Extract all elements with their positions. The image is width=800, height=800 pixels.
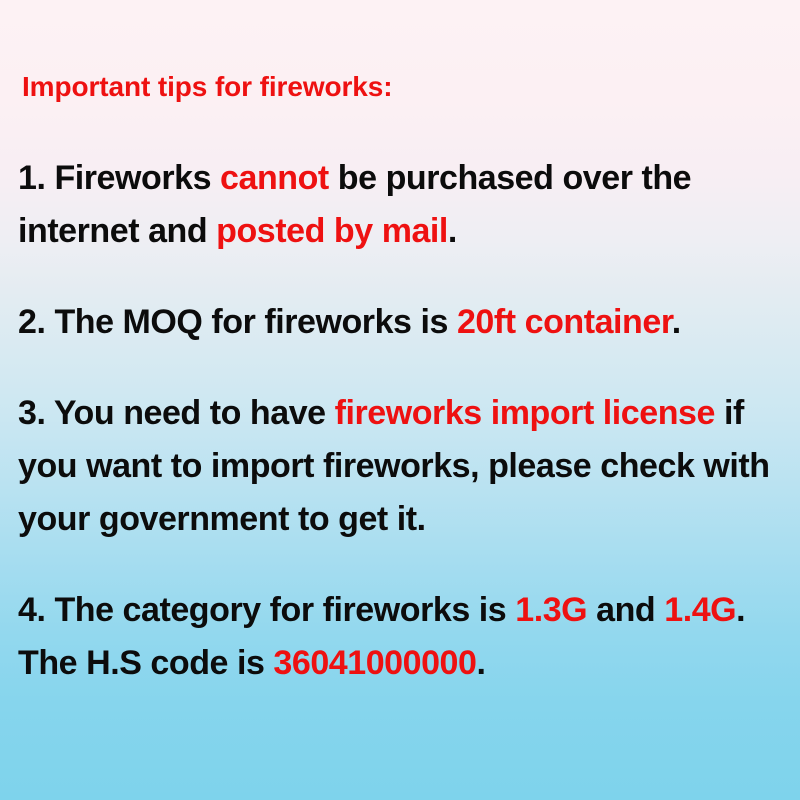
- tip-text: Fireworks: [45, 159, 220, 197]
- tip-highlight: 1.4G: [664, 591, 736, 629]
- tip-highlight: 20ft container: [457, 303, 672, 341]
- tip-item: 4. The category for fireworks is 1.3G an…: [18, 584, 788, 690]
- fireworks-tips-poster: Important tips for fireworks: 1. Firewor…: [0, 0, 800, 800]
- tip-text: .: [476, 644, 485, 682]
- tip-number: 3.: [18, 394, 45, 432]
- tip-item: 2. The MOQ for fireworks is 20ft contain…: [18, 296, 788, 349]
- tip-item: 1. Fireworks cannot be purchased over th…: [18, 152, 788, 258]
- tip-number: 2.: [18, 303, 45, 341]
- tip-text: and: [587, 591, 664, 629]
- tip-text: The category for fireworks is: [45, 591, 515, 629]
- tip-text: The MOQ for fireworks is: [45, 303, 457, 341]
- page-title: Important tips for fireworks:: [22, 70, 392, 104]
- tips-list: 1. Fireworks cannot be purchased over th…: [18, 152, 788, 690]
- tip-text: You need to have: [45, 394, 334, 432]
- tip-highlight: 1.3G: [515, 591, 587, 629]
- tip-text: .: [672, 303, 681, 341]
- tip-text: .: [448, 212, 457, 250]
- tip-highlight: fireworks import license: [335, 394, 715, 432]
- tip-number: 1.: [18, 159, 45, 197]
- tip-highlight: 36041000000: [273, 644, 476, 682]
- tip-item: 3. You need to have fireworks import lic…: [18, 387, 788, 546]
- tip-highlight: cannot: [220, 159, 329, 197]
- tip-number: 4.: [18, 591, 45, 629]
- tip-highlight: posted by mail: [216, 212, 448, 250]
